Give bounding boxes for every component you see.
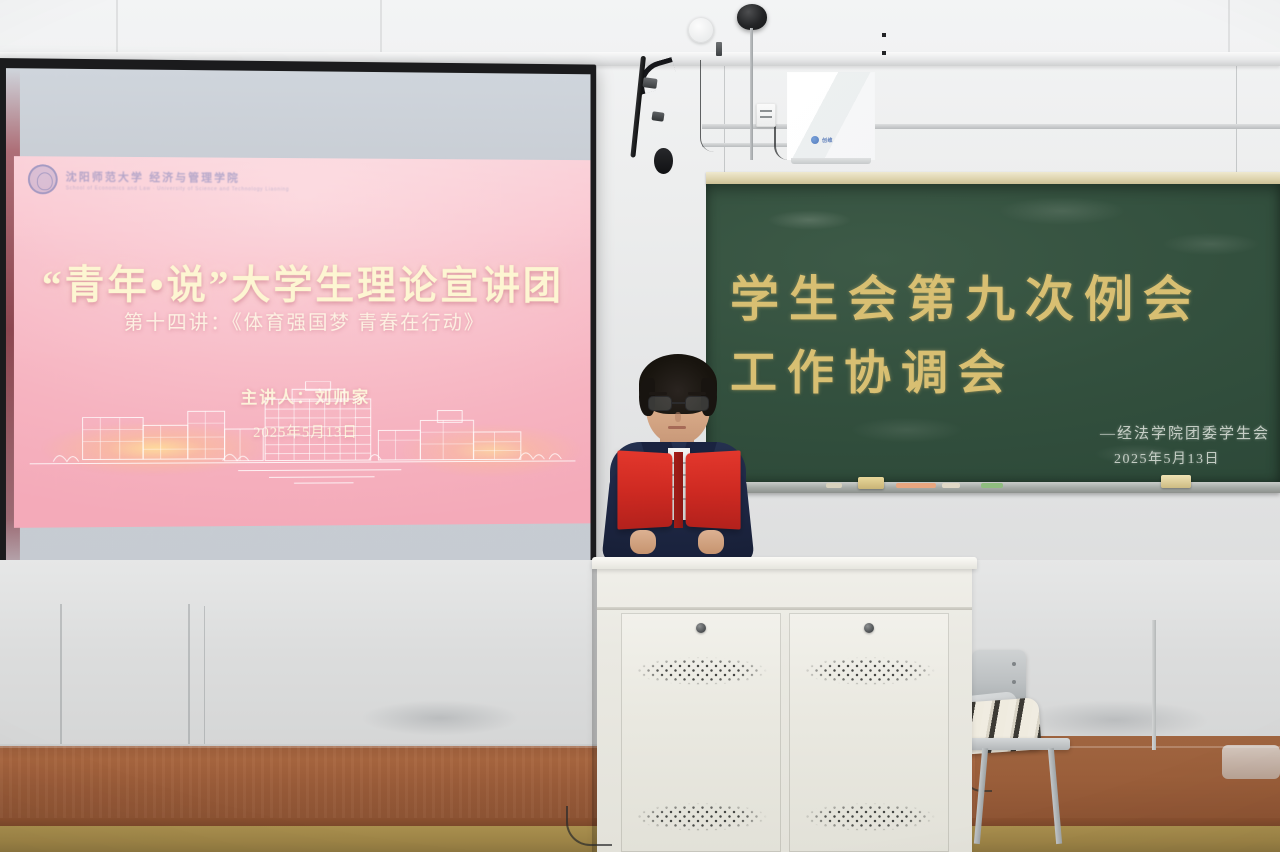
person-brow-left <box>649 392 667 395</box>
microphone-head-icon <box>654 148 673 174</box>
glasses-lens-right <box>685 396 709 411</box>
red-folder[interactable] <box>616 452 742 528</box>
chalk-piece-4[interactable] <box>826 483 842 488</box>
ceiling-smoke-detector-icon <box>688 17 714 43</box>
chair-rivet-1 <box>1012 662 1016 666</box>
device-cable <box>700 60 718 152</box>
speaker-facet <box>787 72 875 160</box>
wall-mount-dot-1 <box>882 33 886 37</box>
ceiling-seam-1 <box>116 0 118 54</box>
podium-desktop <box>592 557 977 569</box>
person-hand-right <box>698 530 724 554</box>
wall-speaker-unit: 创维 <box>787 72 875 160</box>
university-seal-icon <box>28 164 58 194</box>
eyeglasses-icon <box>648 396 709 412</box>
chalk-eraser-icon-2[interactable] <box>1161 475 1191 488</box>
cabinet-lock-icon-left[interactable] <box>696 623 706 633</box>
wall-sensor-icon <box>716 42 722 56</box>
brand-mark-icon <box>811 136 819 144</box>
campus-skyline-illustration <box>14 381 591 494</box>
microphone-clamp-lower[interactable] <box>651 111 664 122</box>
blackboard-surface: 学生会第九次例会 工作协调会 —经法学院团委学生会 2025年5月13日 <box>706 184 1280 484</box>
person-mouth <box>668 426 686 429</box>
lectern-podium <box>597 563 972 852</box>
slide-subtitle: 第十四讲：《体育强国梦 青春在行动》 <box>14 306 591 335</box>
wall-seam-right <box>1236 66 1237 178</box>
podium-cabinet-door-left[interactable] <box>621 613 781 852</box>
blackboard-date: 2025年5月13日 <box>1114 448 1220 468</box>
chair-rivet-2 <box>1012 680 1016 684</box>
folder-half-right <box>686 450 741 529</box>
classroom-scene: 创维 沈阳师范大学 经济与管理学院 School of Economics an… <box>0 0 1280 852</box>
vent-pattern-right-bottom <box>803 803 935 831</box>
slide-org-logo: 沈阳师范大学 经济与管理学院 School of Economics and L… <box>28 164 289 195</box>
blackboard: 学生会第九次例会 工作协调会 —经法学院团委学生会 2025年5月13日 <box>706 172 1280 508</box>
chalk-eraser-icon[interactable] <box>858 477 884 489</box>
blackboard-line-2: 工作协调会 <box>730 334 1280 403</box>
slide-logo-text: 沈阳师范大学 经济与管理学院 School of Economics and L… <box>66 168 290 192</box>
power-outlet-icon[interactable] <box>756 103 776 127</box>
wall-smudge-2 <box>1020 700 1210 740</box>
screen-surface: 沈阳师范大学 经济与管理学院 School of Economics and L… <box>6 68 591 592</box>
vent-pattern-left-bottom <box>635 803 767 831</box>
folder-spine <box>674 452 683 528</box>
microphone-clamp-upper[interactable] <box>642 77 657 89</box>
podium-cabinet-door-right[interactable] <box>789 613 949 852</box>
wall-seam-vertical <box>724 66 725 176</box>
lower-wall-panel-mid <box>204 606 205 746</box>
speaker-brand-label: 创维 <box>822 137 833 144</box>
blackboard-line-1: 学生会第九次例会 <box>730 260 1280 331</box>
glasses-bridge <box>672 402 685 404</box>
chalk-piece-3[interactable] <box>981 483 1003 488</box>
cabinet-lock-icon-right[interactable] <box>864 623 874 633</box>
ceiling-seam-3 <box>1228 0 1230 54</box>
blackboard-signature: —经法学院团委学生会 <box>1100 422 1270 443</box>
slide-logo-en: School of Economics and Law · University… <box>66 185 290 192</box>
dome-camera-icon <box>737 4 767 30</box>
podium-divider-rail <box>597 607 972 610</box>
ceiling-seam-2 <box>380 0 382 54</box>
wall-pipe <box>1152 620 1156 750</box>
screen-frame: 沈阳师范大学 经济与管理学院 School of Economics and L… <box>0 58 596 606</box>
speaker-brand: 创维 <box>811 136 833 144</box>
vent-pattern-left-top <box>635 657 767 685</box>
camera-stem <box>750 28 753 160</box>
lower-wall-panel-right <box>188 604 190 750</box>
person-brow-right <box>688 392 706 395</box>
person-nose <box>675 412 681 422</box>
stored-items-right <box>1222 745 1280 779</box>
glasses-lens-left <box>648 396 672 411</box>
vent-pattern-right-top <box>803 657 935 685</box>
chalk-piece-2[interactable] <box>942 483 960 488</box>
speaker-person <box>602 352 754 576</box>
wall-mount-dot-2 <box>882 51 886 55</box>
person-hand-left <box>630 530 656 554</box>
lower-wall-panel-left <box>60 604 62 750</box>
projection-screen: 沈阳师范大学 经济与管理学院 School of Economics and L… <box>0 58 612 606</box>
folder-half-left <box>617 450 672 529</box>
wall-smudge-1 <box>360 700 520 736</box>
slide-logo-cn: 沈阳师范大学 经济与管理学院 <box>66 168 290 185</box>
chalk-piece-1[interactable] <box>896 483 936 488</box>
presentation-slide: 沈阳师范大学 经济与管理学院 School of Economics and L… <box>14 156 591 528</box>
speaker-bottom-edge <box>791 158 871 164</box>
slide-title: “青年•说”大学生理论宣讲团 <box>14 252 591 310</box>
